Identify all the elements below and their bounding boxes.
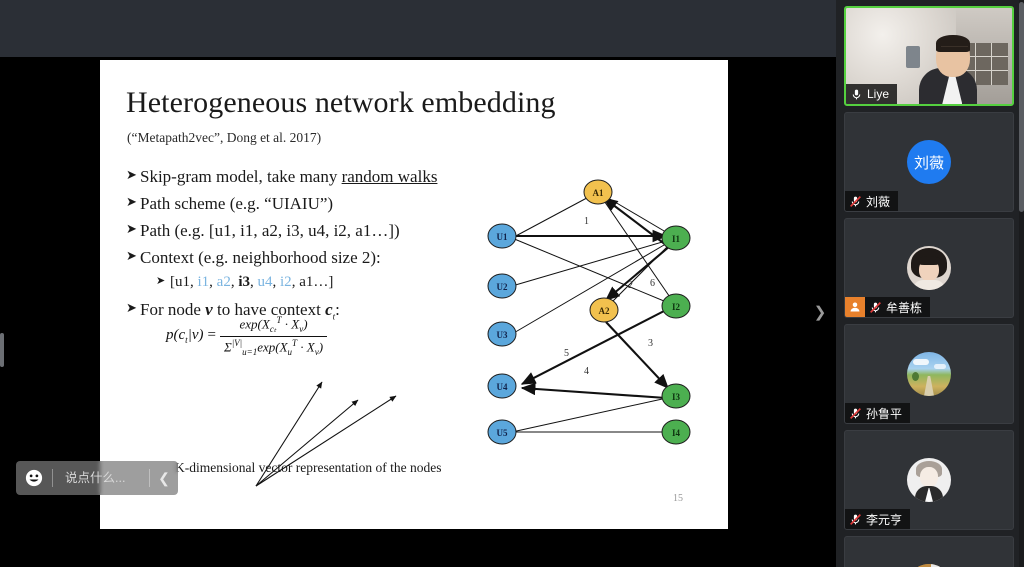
participant-namebar: Liye <box>846 84 897 104</box>
node-u2: U2 <box>488 274 516 298</box>
sidebar-scrollbar-thumb[interactable] <box>1019 2 1024 212</box>
participant-namebar: 牟善栋 <box>865 297 930 317</box>
edge-label-5: 5 <box>564 348 569 359</box>
node-i2-label: I2 <box>672 302 681 312</box>
den-sub: u=1 <box>242 347 257 357</box>
den-sup: |V| <box>232 338 242 348</box>
chevron-right-icon[interactable]: ❯ <box>810 295 830 329</box>
bullet-text: Context (e.g. neighborhood size 2): <box>140 248 381 267</box>
slide-subtitle: (“Metapath2vec”, Dong et al. 2017) <box>127 130 321 146</box>
participant-name: 孙鲁平 <box>866 405 902 422</box>
bullet-marker-icon: ➤ <box>126 301 137 314</box>
node-i3: I3 <box>662 384 690 408</box>
seq-token-i3: i3 <box>238 274 250 290</box>
participant-tile-liye[interactable]: Liye <box>844 6 1014 106</box>
node-a2-label: A2 <box>599 306 610 316</box>
num-exp: exp(X <box>240 316 270 331</box>
node-a2: A2 <box>590 298 618 322</box>
participant-name: 牟善栋 <box>886 299 922 316</box>
bullet-context: ➤Context (e.g. neighborhood size 2): <box>126 249 466 266</box>
seq-close: ] <box>328 274 333 290</box>
node-u1-label: U1 <box>497 232 508 242</box>
bullet-path-scheme: ➤Path scheme (e.g. “UIAIU”) <box>126 195 466 212</box>
edge-label-6: 6 <box>650 278 655 289</box>
seq-token-u1: u1 <box>175 274 190 290</box>
chat-message-input[interactable]: 说点什么... <box>53 461 149 495</box>
avatar-photo-landscape <box>907 352 951 396</box>
presentation-slide: Heterogeneous network embedding (“Metapa… <box>100 60 728 529</box>
diagram-item-nodes: I1 I2 I3 I4 <box>662 226 690 444</box>
top-bar <box>0 0 836 57</box>
participant-namebar: 孙鲁平 <box>845 403 910 423</box>
bullet-marker-icon: ➤ <box>126 249 137 262</box>
seq-token-a2: a2 <box>217 274 231 290</box>
participant-namebar: 李元亨 <box>845 509 910 529</box>
bullet-marker-icon: ➤ <box>126 168 137 181</box>
node-i1-label: I1 <box>672 234 681 244</box>
participant-tile-liuwei[interactable]: 刘薇 刘薇 <box>844 112 1014 212</box>
mic-on-icon <box>850 88 863 101</box>
seq-token-a1: a1… <box>299 274 328 290</box>
num-tail: · X <box>281 316 299 331</box>
node-u5-label: U5 <box>497 428 508 438</box>
participant-name: Liye <box>867 87 889 101</box>
smiley-icon[interactable] <box>16 461 52 495</box>
node-i2: I2 <box>662 294 690 318</box>
participant-tile-mushandong[interactable]: 牟善栋 <box>844 218 1014 318</box>
edge-label-1: 1 <box>584 216 589 227</box>
bullet-marker-icon: ➤ <box>126 195 137 208</box>
probability-formula: p(ct|v) = exp(XcₜT · Xv) Σ|V|u=1exp(XuT … <box>166 315 327 357</box>
node-u1: U1 <box>488 224 516 248</box>
mic-off-icon <box>869 301 882 314</box>
mic-off-icon <box>849 407 862 420</box>
node-u3-label: U3 <box>497 330 508 340</box>
formula-lhs: p(ct|v) <box>166 327 203 345</box>
avatar-photo-girl <box>907 246 951 290</box>
mic-off-icon <box>849 195 862 208</box>
node-i1: I1 <box>662 226 690 250</box>
node-i3-label: I3 <box>672 392 681 402</box>
den-close: ) <box>319 339 323 354</box>
meeting-window: Heterogeneous network embedding (“Metapa… <box>0 0 1024 567</box>
bullet-underlined-text: random walks <box>342 167 438 186</box>
bullet-skip-gram: ➤Skip-gram model, take many random walks <box>126 168 466 185</box>
participants-sidebar[interactable]: Liye 刘薇 刘薇 <box>836 0 1024 567</box>
mic-off-icon <box>849 513 862 526</box>
stage-left-marker <box>0 333 4 367</box>
diagram-user-nodes: U1 U2 U3 U4 <box>488 224 516 444</box>
den-sigma: Σ <box>224 339 232 354</box>
host-badge-icon <box>845 297 865 317</box>
chevron-left-icon[interactable]: ❮ <box>150 461 178 495</box>
bullet-marker-icon: ➤ <box>126 222 137 235</box>
participant-tile-liyuanheng[interactable]: 李元亨 <box>844 430 1014 530</box>
chat-input-bar[interactable]: 说点什么... ❮ <box>16 461 178 495</box>
participant-tile-partial[interactable] <box>844 536 1014 567</box>
node-a1-label: A1 <box>593 188 604 198</box>
sub-bullet-context-sequence: ➤[u1, i1, a2, i3, u4, i2, a1…] <box>156 274 466 291</box>
avatar-initials: 刘薇 <box>907 140 951 184</box>
slide-page-number: 15 <box>673 493 683 504</box>
edge-label-3: 3 <box>648 338 653 349</box>
edge-label-4: 4 <box>584 366 589 377</box>
node-u5: U5 <box>488 420 516 444</box>
node-u4-label: U4 <box>497 382 508 392</box>
seq-token-i2: i2 <box>280 274 292 290</box>
den-tail: · X <box>297 339 315 354</box>
seq-token-u4: u4 <box>258 274 273 290</box>
participant-tile-sunluping[interactable]: 孙鲁平 <box>844 324 1014 424</box>
formula-p: p <box>166 327 174 343</box>
formula-denominator: Σ|V|u=1exp(XuT · Xv) <box>220 337 327 357</box>
slide-title: Heterogeneous network embedding <box>126 86 556 120</box>
num-sub: cₜ <box>270 324 277 334</box>
sidebar-scrollbar-track[interactable] <box>1019 0 1024 567</box>
den-u-sub: u <box>288 347 293 357</box>
participant-name: 刘薇 <box>866 193 890 210</box>
avatar-photo-portrait <box>907 458 951 502</box>
slide-caption: K-dimensional vector representation of t… <box>175 460 442 476</box>
bullet-text-prefix: Skip-gram model, take many <box>140 167 342 186</box>
edge-label-2: 2 <box>628 280 633 291</box>
avatar <box>845 537 1013 567</box>
formula-equals: = <box>207 327 215 344</box>
seq-token-i1: i1 <box>198 274 210 290</box>
participant-name: 李元亨 <box>866 511 902 528</box>
screen-share-stage: Heterogeneous network embedding (“Metapa… <box>0 57 836 567</box>
node-i4: I4 <box>662 420 690 444</box>
node-u2-label: U2 <box>497 282 508 292</box>
node-i4-label: I4 <box>672 428 681 438</box>
node-u3: U3 <box>488 322 516 346</box>
formula-numerator: exp(XcₜT · Xv) <box>236 315 312 336</box>
participant-namebar: 刘薇 <box>845 191 898 211</box>
node-u4: U4 <box>488 374 516 398</box>
formula-close: ) <box>198 327 203 343</box>
node-a1: A1 <box>584 180 612 204</box>
den-body: exp(X <box>257 339 287 354</box>
heterogeneous-network-diagram: 1 2 3 4 5 6 U1 U2 <box>480 170 720 460</box>
bullet-text: Path scheme (e.g. “UIAIU”) <box>140 194 333 213</box>
for-node-post: : <box>335 300 340 319</box>
slide-bullet-list: ➤Skip-gram model, take many random walks… <box>126 168 466 331</box>
formula-fraction: exp(XcₜT · Xv) Σ|V|u=1exp(XuT · Xv) <box>220 315 327 357</box>
bullet-text: Path (e.g. [u1, i1, a2, i3, u4, i2, a1…]… <box>140 221 400 240</box>
num-close: ) <box>303 316 307 331</box>
bullet-path: ➤Path (e.g. [u1, i1, a2, i3, u4, i2, a1…… <box>126 222 466 239</box>
sub-bullet-marker-icon: ➤ <box>156 274 165 287</box>
